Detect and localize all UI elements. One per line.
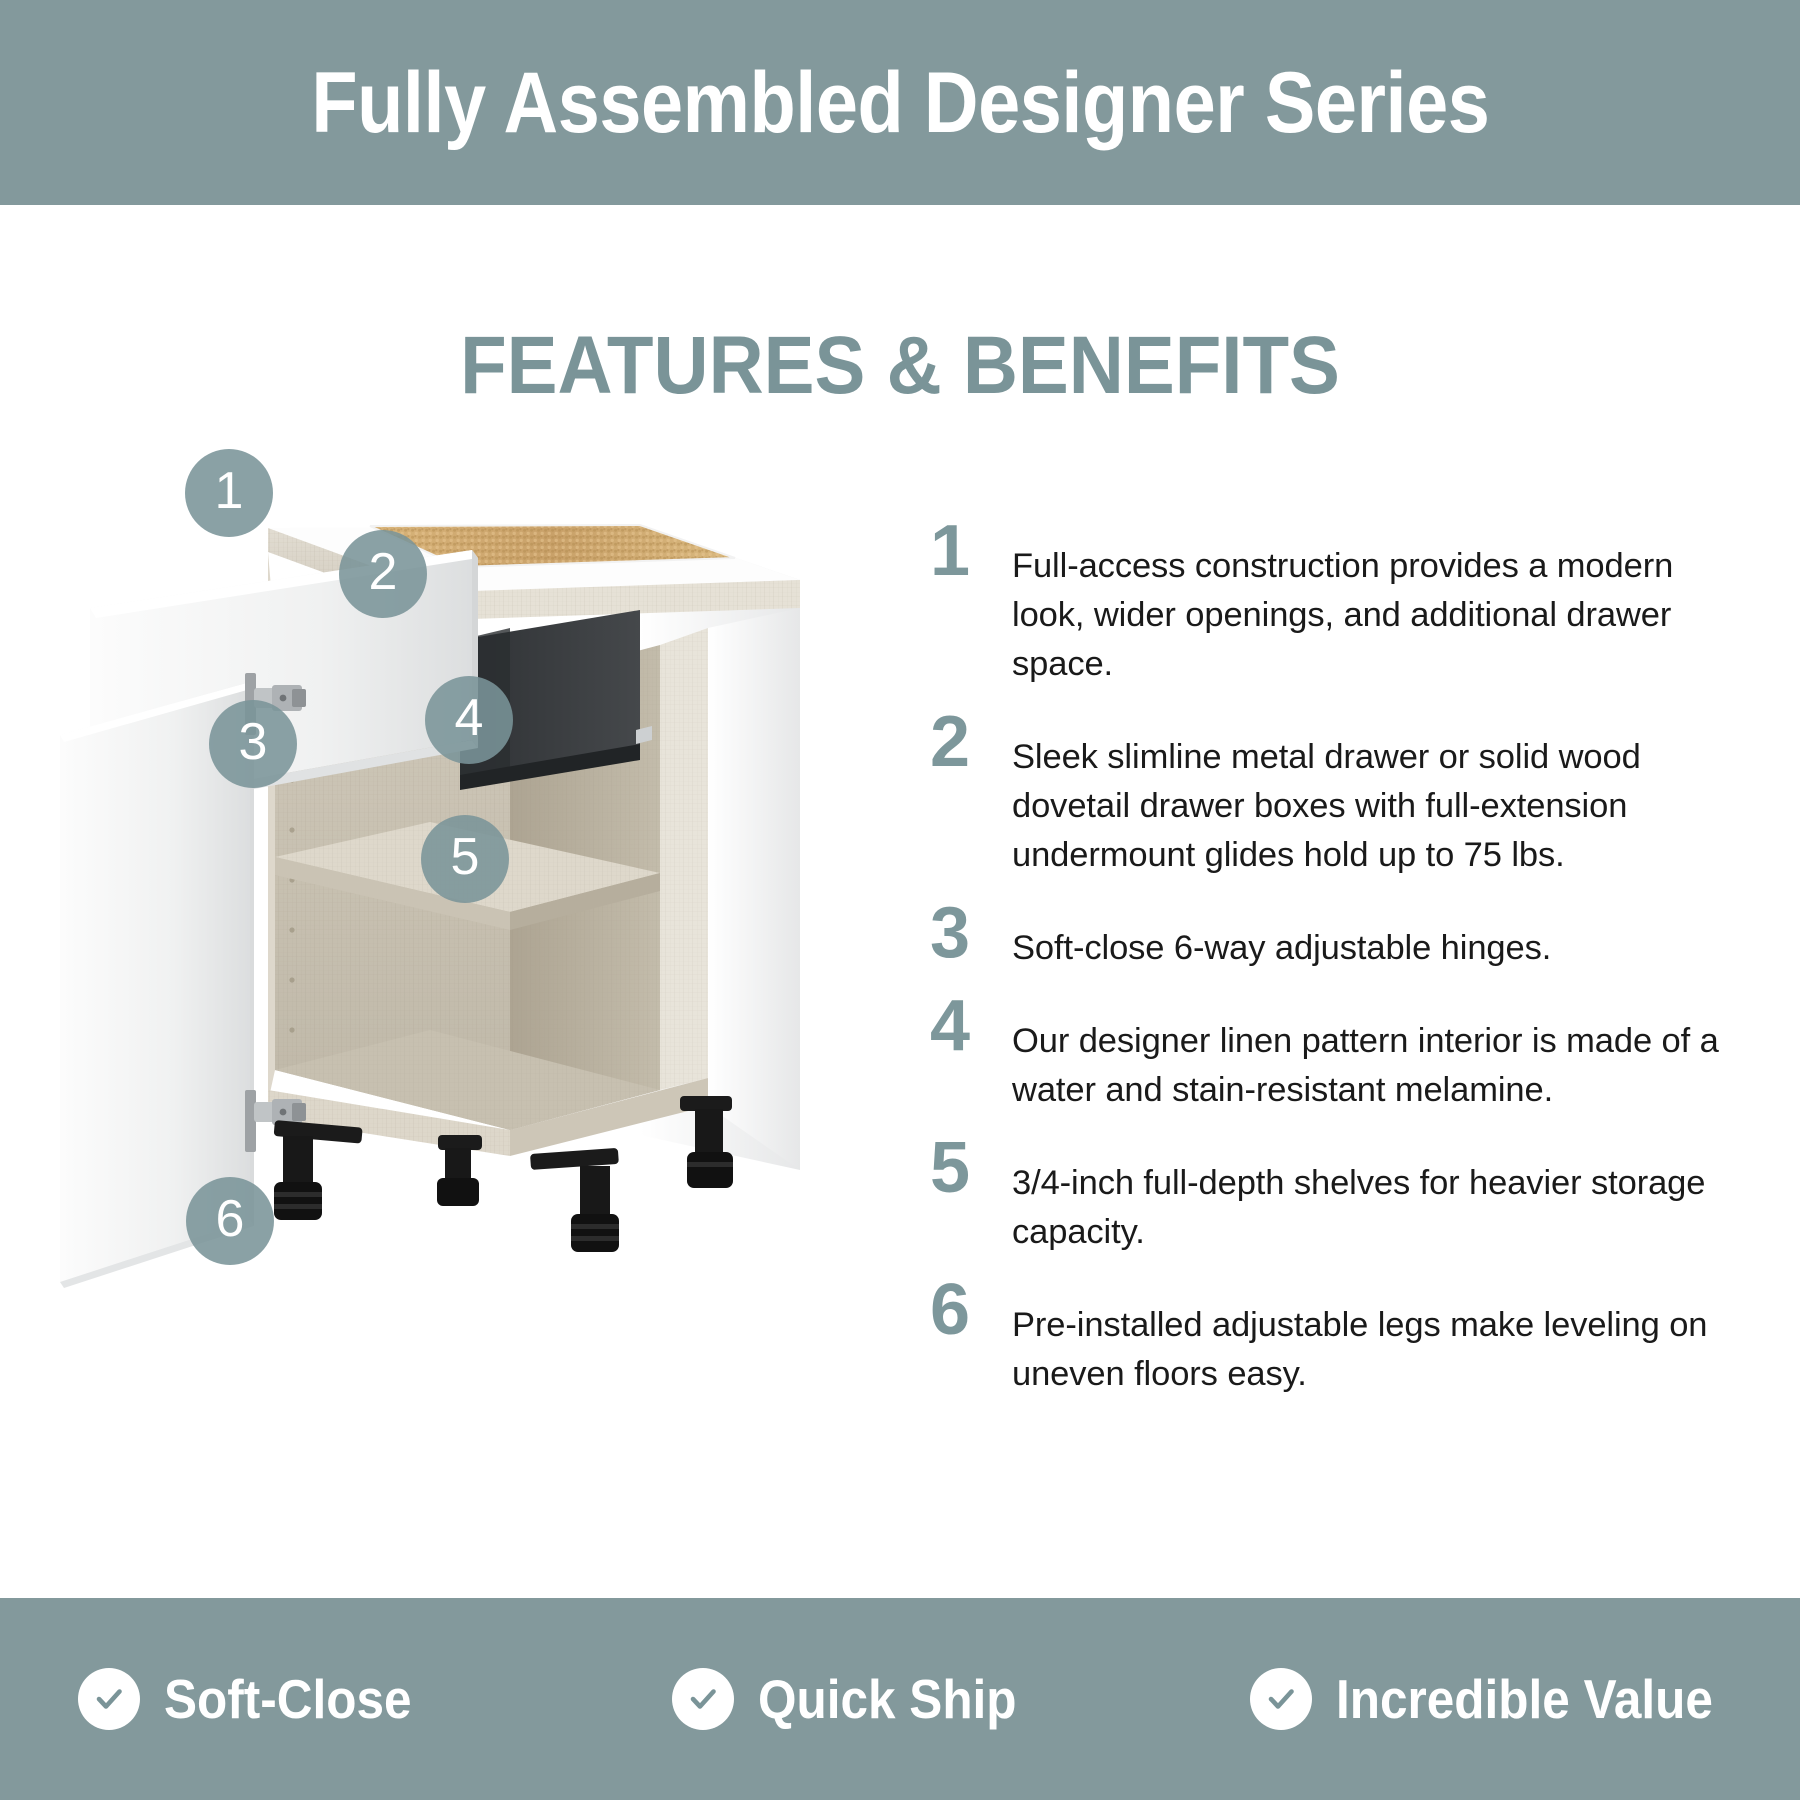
footer-label-soft-close: Soft-Close	[164, 1672, 412, 1727]
feature-number-5: 5	[930, 1137, 1012, 1198]
feature-item-4: 4 Our designer linen pattern interior is…	[930, 995, 1740, 1115]
feature-number-6: 6	[930, 1279, 1012, 1340]
infographic-page: Fully Assembled Designer Series FEATURES…	[0, 0, 1800, 1800]
check-icon	[1250, 1668, 1312, 1730]
check-icon	[78, 1668, 140, 1730]
footer-label-quick-ship: Quick Ship	[758, 1672, 1017, 1727]
callout-badge-5[interactable]: 5	[421, 815, 509, 903]
feature-text-1: Full-access construction provides a mode…	[1012, 520, 1740, 689]
features-list: 1 Full-access construction provides a mo…	[930, 520, 1740, 1421]
feature-text-6: Pre-installed adjustable legs make level…	[1012, 1279, 1740, 1399]
callout-badge-6[interactable]: 6	[186, 1177, 274, 1265]
feature-text-2: Sleek slimline metal drawer or solid woo…	[1012, 711, 1740, 880]
feature-text-5: 3/4-inch full-depth shelves for heavier …	[1012, 1137, 1740, 1257]
callout-badge-1[interactable]: 1	[185, 449, 273, 537]
footer-badge-soft-close: Soft-Close	[78, 1668, 439, 1730]
cabinet-outer-right-lower	[708, 608, 800, 1170]
adjustable-leg-front-right	[530, 1148, 619, 1252]
feature-number-2: 2	[930, 711, 1012, 772]
callout-badge-4[interactable]: 4	[425, 676, 513, 764]
feature-number-4: 4	[930, 995, 1012, 1056]
adjustable-leg-back-left	[437, 1135, 482, 1206]
feature-number-1: 1	[930, 520, 1012, 581]
feature-item-1: 1 Full-access construction provides a mo…	[930, 520, 1740, 689]
adjustable-leg-front-left	[274, 1120, 363, 1220]
check-icon	[672, 1668, 734, 1730]
footer-bar: Soft-Close Quick Ship Incredible Value	[0, 1598, 1800, 1800]
feature-item-2: 2 Sleek slimline metal drawer or solid w…	[930, 711, 1740, 880]
footer-badge-incredible-value: Incredible Value	[1250, 1668, 1755, 1730]
page-title: Fully Assembled Designer Series	[311, 60, 1489, 146]
feature-item-3: 3 Soft-close 6-way adjustable hinges.	[930, 902, 1740, 973]
footer-label-incredible-value: Incredible Value	[1336, 1672, 1713, 1727]
feature-number-3: 3	[930, 902, 1012, 963]
feature-text-3: Soft-close 6-way adjustable hinges.	[1012, 902, 1740, 973]
feature-item-6: 6 Pre-installed adjustable legs make lev…	[930, 1279, 1740, 1399]
footer-badge-quick-ship: Quick Ship	[672, 1668, 1045, 1730]
section-heading: FEATURES & BENEFITS	[63, 325, 1737, 407]
callout-badge-2[interactable]: 2	[339, 530, 427, 618]
callout-badge-3[interactable]: 3	[209, 700, 297, 788]
feature-text-4: Our designer linen pattern interior is m…	[1012, 995, 1740, 1115]
feature-item-5: 5 3/4-inch full-depth shelves for heavie…	[930, 1137, 1740, 1257]
header-bar: Fully Assembled Designer Series	[0, 0, 1800, 205]
